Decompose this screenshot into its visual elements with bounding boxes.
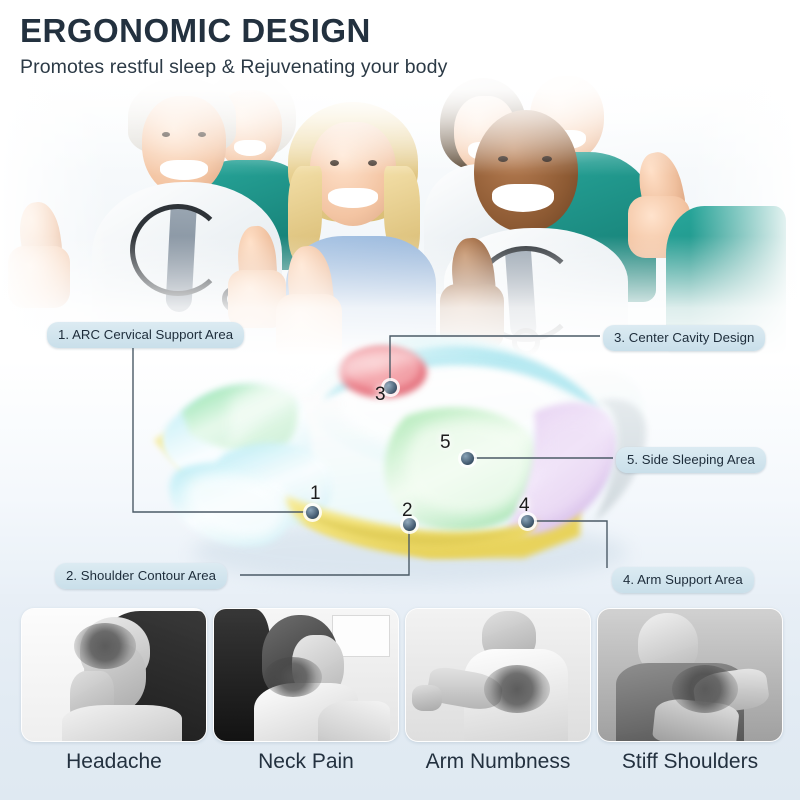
symptom-card-stiff-shoulders[interactable]: [597, 608, 783, 742]
symptom-card-neck-pain[interactable]: [213, 608, 399, 742]
pain-indicator: [264, 657, 322, 697]
pain-indicator: [484, 665, 550, 713]
stiff-shoulders-photo: [598, 609, 782, 741]
callout-label-3[interactable]: 3. Center Cavity Design: [603, 325, 765, 351]
marker-number-5: 5: [440, 432, 451, 454]
neck-pain-photo: [214, 609, 398, 741]
marker-number-3: 3: [375, 384, 386, 406]
symptom-caption-headache: Headache: [21, 750, 207, 774]
marker-number-1: 1: [310, 483, 321, 505]
infographic-page: ERGONOMIC DESIGN Promotes restful sleep …: [0, 0, 800, 800]
symptom-captions: Headache Neck Pain Arm Numbness Stiff Sh…: [21, 750, 783, 774]
symptom-caption-arm-numbness: Arm Numbness: [405, 750, 591, 774]
symptom-strip: Headache Neck Pain Arm Numbness Stiff Sh…: [0, 594, 800, 800]
arm-numbness-photo: [406, 609, 590, 741]
pain-indicator: [74, 623, 136, 669]
callout-label-5[interactable]: 5. Side Sleeping Area: [616, 447, 766, 473]
symptom-caption-neck-pain: Neck Pain: [213, 750, 399, 774]
headache-photo: [22, 609, 206, 741]
callout-label-1[interactable]: 1. ARC Cervical Support Area: [47, 322, 244, 348]
symptom-cards: [21, 608, 783, 742]
marker-number-2: 2: [402, 500, 413, 522]
header: ERGONOMIC DESIGN Promotes restful sleep …: [20, 14, 447, 79]
callout-label-4[interactable]: 4. Arm Support Area: [612, 567, 754, 593]
marker-number-4: 4: [519, 495, 530, 517]
symptom-card-headache[interactable]: [21, 608, 207, 742]
marker-dot-1[interactable]: [306, 506, 319, 519]
symptom-caption-stiff-shoulders: Stiff Shoulders: [597, 750, 783, 774]
page-subtitle: Promotes restful sleep & Rejuvenating yo…: [20, 56, 447, 79]
pain-indicator: [672, 665, 738, 713]
page-title: ERGONOMIC DESIGN: [20, 14, 447, 49]
marker-dot-5[interactable]: [461, 452, 474, 465]
callout-label-2[interactable]: 2. Shoulder Contour Area: [55, 563, 227, 589]
symptom-card-arm-numbness[interactable]: [405, 608, 591, 742]
